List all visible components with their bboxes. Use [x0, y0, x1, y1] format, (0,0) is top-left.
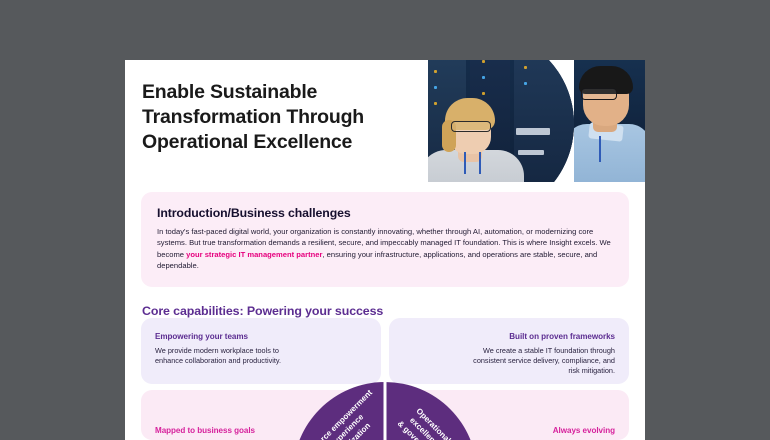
capability-card-body: We provide modern workplace tools to enh…: [155, 346, 307, 366]
eyeglasses-icon: [581, 88, 617, 100]
screenshot-canvas: Enable Sustainable Transformation Throug…: [0, 0, 770, 440]
document-header: Enable Sustainable Transformation Throug…: [125, 60, 645, 182]
capability-card-always-evolving: Always evolving: [389, 390, 629, 440]
introduction-card: Introduction/Business challenges In toda…: [141, 192, 629, 287]
person-male: [574, 60, 645, 182]
page-title-line-1: Enable Sustainable: [142, 80, 432, 105]
header-photo-right-panel: [574, 60, 645, 182]
capability-card-mapped-to-business-goals: Mapped to business goals: [141, 390, 381, 440]
introduction-heading: Introduction/Business challenges: [157, 206, 613, 220]
page-title-line-3: Operational Excellence: [142, 130, 432, 155]
capability-card-body: We create a stable IT foundation through…: [463, 346, 615, 377]
capability-card-empowering-your-teams: Empowering your teams We provide modern …: [141, 318, 381, 384]
header-photo: [428, 60, 645, 182]
introduction-body-highlight[interactable]: your strategic IT management partner: [186, 250, 322, 259]
core-capabilities-heading: Core capabilities: Powering your success: [142, 304, 383, 318]
person-female: [428, 74, 524, 182]
capability-card-built-on-proven-frameworks: Built on proven frameworks We create a s…: [389, 318, 629, 384]
eyeglasses-icon: [451, 121, 491, 132]
document-page: Enable Sustainable Transformation Throug…: [125, 60, 645, 440]
header-photo-circle: [428, 60, 574, 182]
core-capabilities-grid: Empowering your teams We provide modern …: [141, 318, 629, 440]
introduction-body: In today's fast-paced digital world, you…: [157, 226, 613, 272]
capability-card-heading: Built on proven frameworks: [403, 332, 615, 341]
capability-card-heading: Mapped to business goals: [155, 426, 367, 435]
page-title-line-2: Transformation Through: [142, 105, 432, 130]
capability-card-heading: Empowering your teams: [155, 332, 367, 341]
page-title: Enable Sustainable Transformation Throug…: [142, 80, 432, 155]
capability-card-heading: Always evolving: [403, 426, 615, 435]
